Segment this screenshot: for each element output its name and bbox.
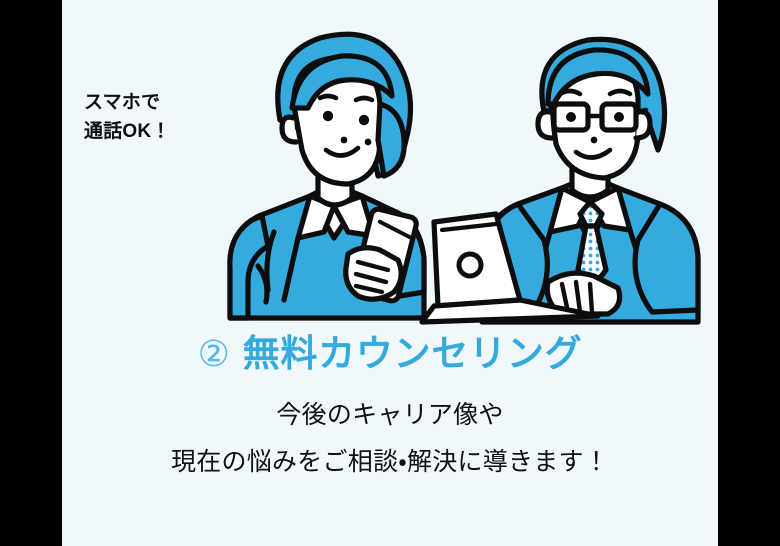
content-canvas: スマホで 通話OK！ ② 無料カウンセリング 今後のキャリア像や 現在の悩みをご…	[62, 0, 718, 546]
page-title: ② 無料カウンセリング	[62, 332, 718, 376]
callout-line-2: 通話OK！	[84, 117, 214, 146]
step-number-badge: ②	[198, 336, 231, 372]
illustration-svg	[62, 0, 718, 335]
subtitle-line-1: 今後のキャリア像や	[62, 392, 718, 438]
letterbox-bar-right	[718, 0, 780, 546]
letterbox-bar-left	[0, 0, 62, 546]
counseling-illustration	[62, 0, 718, 335]
screenshot-stage: スマホで 通話OK！ ② 無料カウンセリング 今後のキャリア像や 現在の悩みをご…	[0, 0, 780, 546]
subtitle: 今後のキャリア像や 現在の悩みをご相談・解決に導きます！	[62, 392, 718, 485]
subtitle-line-2: 現在の悩みをご相談・解決に導きます！	[62, 439, 718, 485]
callout-line-1: スマホで	[84, 88, 214, 117]
figure-woman	[230, 34, 424, 318]
page-title-text: 無料カウンセリング	[243, 332, 583, 376]
text-block: ② 無料カウンセリング 今後のキャリア像や 現在の悩みをご相談・解決に導きます！	[62, 332, 718, 485]
callout-text: スマホで 通話OK！	[84, 88, 214, 147]
